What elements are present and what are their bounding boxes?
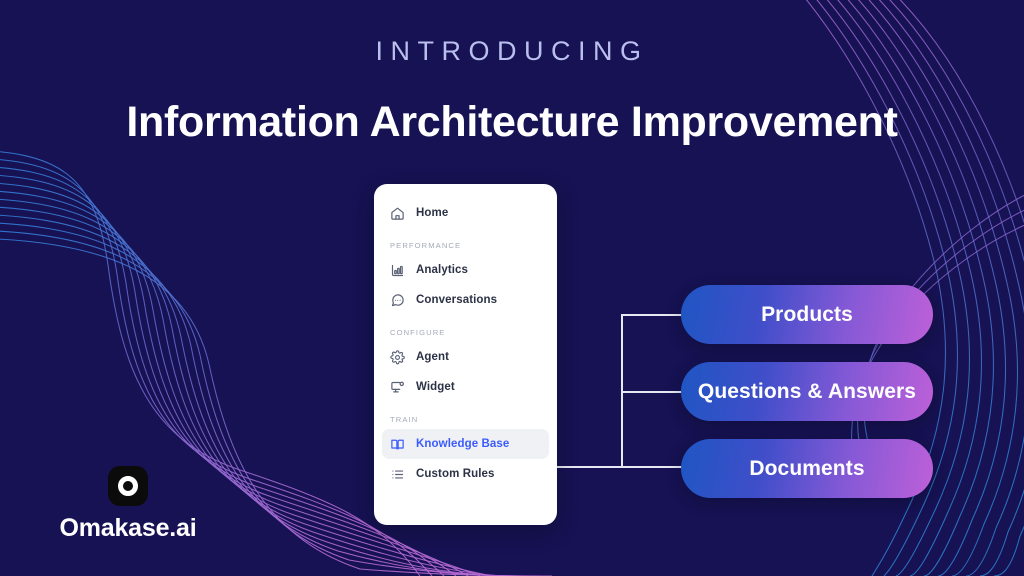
sidebar-section-performance: PERFORMANCE — [390, 241, 557, 250]
book-icon — [390, 437, 405, 452]
sidebar-panel: Home PERFORMANCE Analytics Conversations — [374, 184, 557, 525]
sidebar-section-configure: CONFIGURE — [390, 328, 557, 337]
chat-bubble-icon — [390, 293, 405, 308]
home-icon — [390, 206, 405, 221]
sidebar-item-label: Analytics — [416, 264, 468, 276]
sidebar-item-label: Agent — [416, 351, 449, 363]
branch-pill-label: Products — [761, 303, 853, 327]
sidebar-item-home[interactable]: Home — [382, 198, 549, 228]
sidebar-section-train: TRAIN — [390, 415, 557, 424]
omakase-logo-icon — [108, 466, 148, 506]
branch-pill-label: Questions & Answers — [698, 380, 916, 404]
sidebar-item-label: Home — [416, 207, 448, 219]
sidebar-item-agent[interactable]: Agent — [382, 342, 549, 372]
page-title: Information Architecture Improvement — [0, 96, 1024, 148]
connector-branch-questions — [621, 391, 687, 393]
slide-canvas: INTRODUCING Information Architecture Imp… — [0, 0, 1024, 576]
brand-name: Omakase.ai — [60, 514, 197, 543]
connector-branch-documents — [621, 466, 687, 468]
branch-pill-questions-answers[interactable]: Questions & Answers — [681, 362, 933, 421]
connector-branch-products — [621, 314, 687, 316]
sidebar-item-conversations[interactable]: Conversations — [382, 285, 549, 315]
sidebar-item-label: Widget — [416, 381, 455, 393]
branch-pill-products[interactable]: Products — [681, 285, 933, 344]
sidebar-item-label: Custom Rules — [416, 468, 495, 480]
sidebar-item-label: Conversations — [416, 294, 497, 306]
bar-chart-icon — [390, 263, 405, 278]
brand-lockup: Omakase.ai — [55, 466, 201, 543]
branch-pill-documents[interactable]: Documents — [681, 439, 933, 498]
monitor-icon — [390, 380, 405, 395]
logo-ring — [118, 476, 138, 496]
sidebar-item-widget[interactable]: Widget — [382, 372, 549, 402]
connector-trunk-feed — [557, 466, 623, 468]
sidebar-item-analytics[interactable]: Analytics — [382, 255, 549, 285]
kicker-text: INTRODUCING — [0, 36, 1024, 67]
gear-icon — [390, 350, 405, 365]
branch-pill-label: Documents — [749, 457, 864, 481]
sidebar-item-custom-rules[interactable]: Custom Rules — [382, 459, 549, 489]
sidebar-item-label: Knowledge Base — [416, 438, 509, 450]
sidebar-item-knowledge-base[interactable]: Knowledge Base — [382, 429, 549, 459]
list-icon — [390, 467, 405, 482]
